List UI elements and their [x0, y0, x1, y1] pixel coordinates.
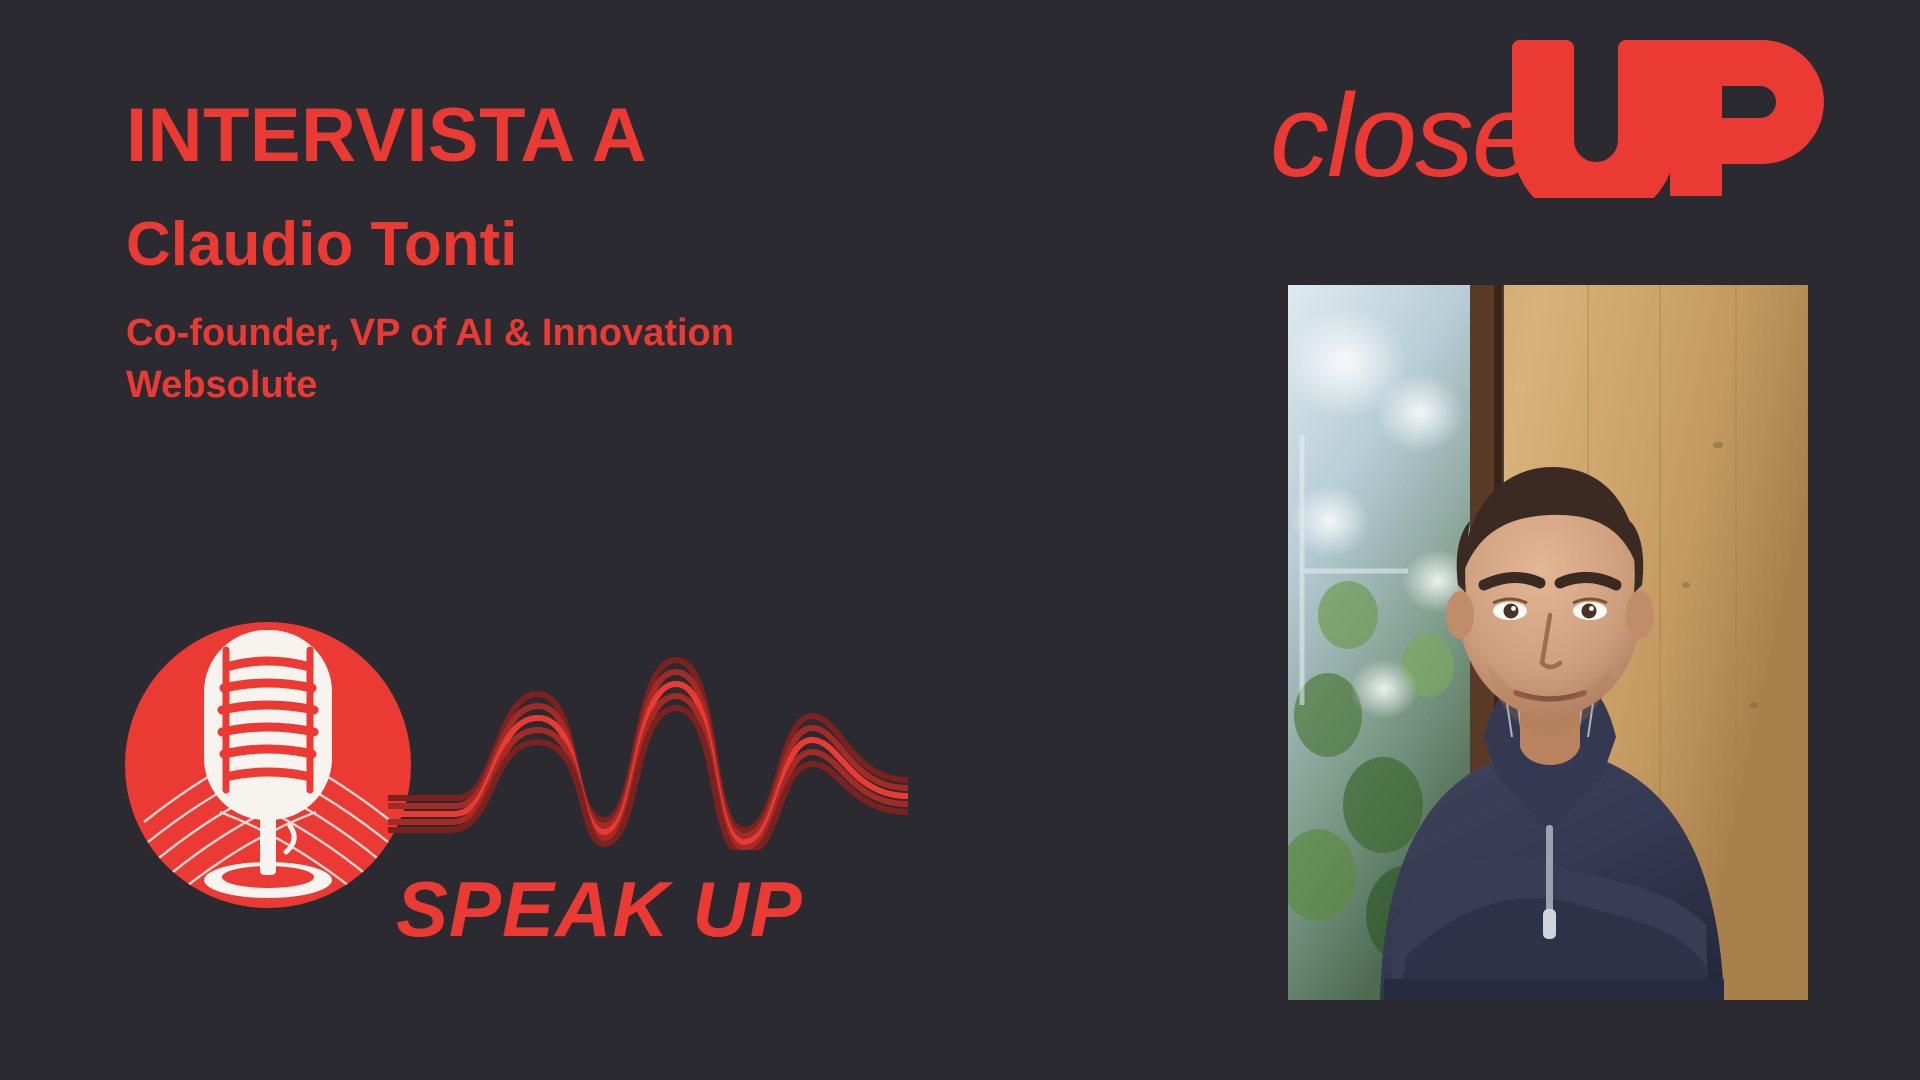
audio-waveform-graphic: [388, 630, 908, 850]
closeup-media-logo: close media: [1270, 28, 1830, 198]
brand-p-glyph: [1670, 40, 1824, 196]
guest-name: Claudio Tonti: [126, 212, 1186, 279]
eyebrow-label: INTERVISTA A: [126, 96, 1186, 176]
guest-role-line-1: Co-founder, VP of AI & Innovation: [126, 307, 1186, 359]
speak-up-title: SPEAK UP: [396, 870, 803, 948]
brand-close-text: close: [1270, 70, 1535, 198]
microphone-icon: [108, 590, 428, 910]
speak-up-lockup: SPEAK UP: [108, 590, 908, 1010]
guest-photo: [1288, 285, 1808, 1000]
interview-title-slide: INTERVISTA A Claudio Tonti Co-founder, V…: [0, 0, 1920, 1080]
headline-block: INTERVISTA A Claudio Tonti Co-founder, V…: [126, 96, 1186, 412]
guest-company-line: Websolute: [126, 359, 1186, 411]
brand-media-text: media: [1618, 82, 1648, 158]
brand-u-glyph: [1512, 40, 1676, 198]
